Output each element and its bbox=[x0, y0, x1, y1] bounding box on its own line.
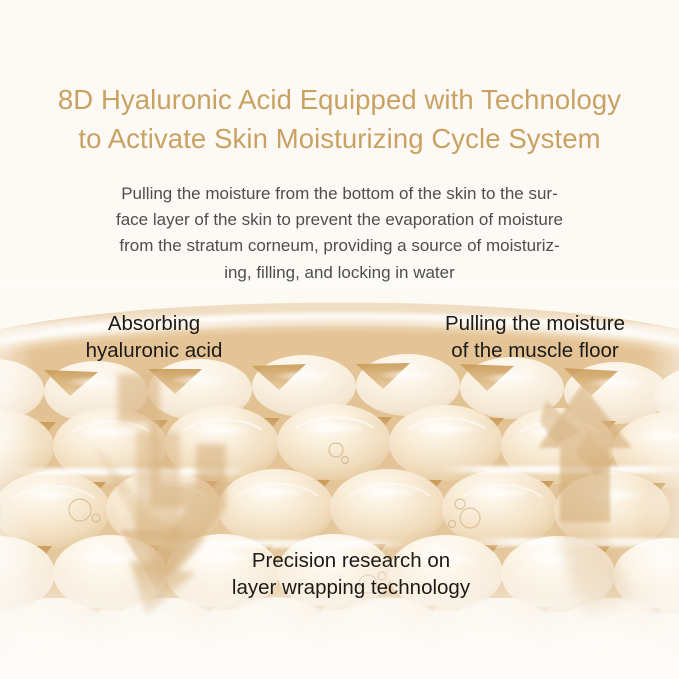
page-title: 8D Hyaluronic Acid Equipped with Technol… bbox=[0, 80, 679, 158]
caption-absorbing-hyaluronic-acid: Absorbing hyaluronic acid bbox=[34, 310, 274, 364]
page-subtitle: Pulling the moisture from the bottom of … bbox=[63, 181, 616, 286]
product-infographic: Absorbing hyaluronic acid Pulling the mo… bbox=[0, 0, 679, 679]
caption-precision-research: Precision research on layer wrapping tec… bbox=[192, 547, 510, 601]
caption-pulling-moisture: Pulling the moisture of the muscle floor bbox=[416, 310, 654, 364]
header-text-block: 8D Hyaluronic Acid Equipped with Technol… bbox=[0, 0, 679, 290]
